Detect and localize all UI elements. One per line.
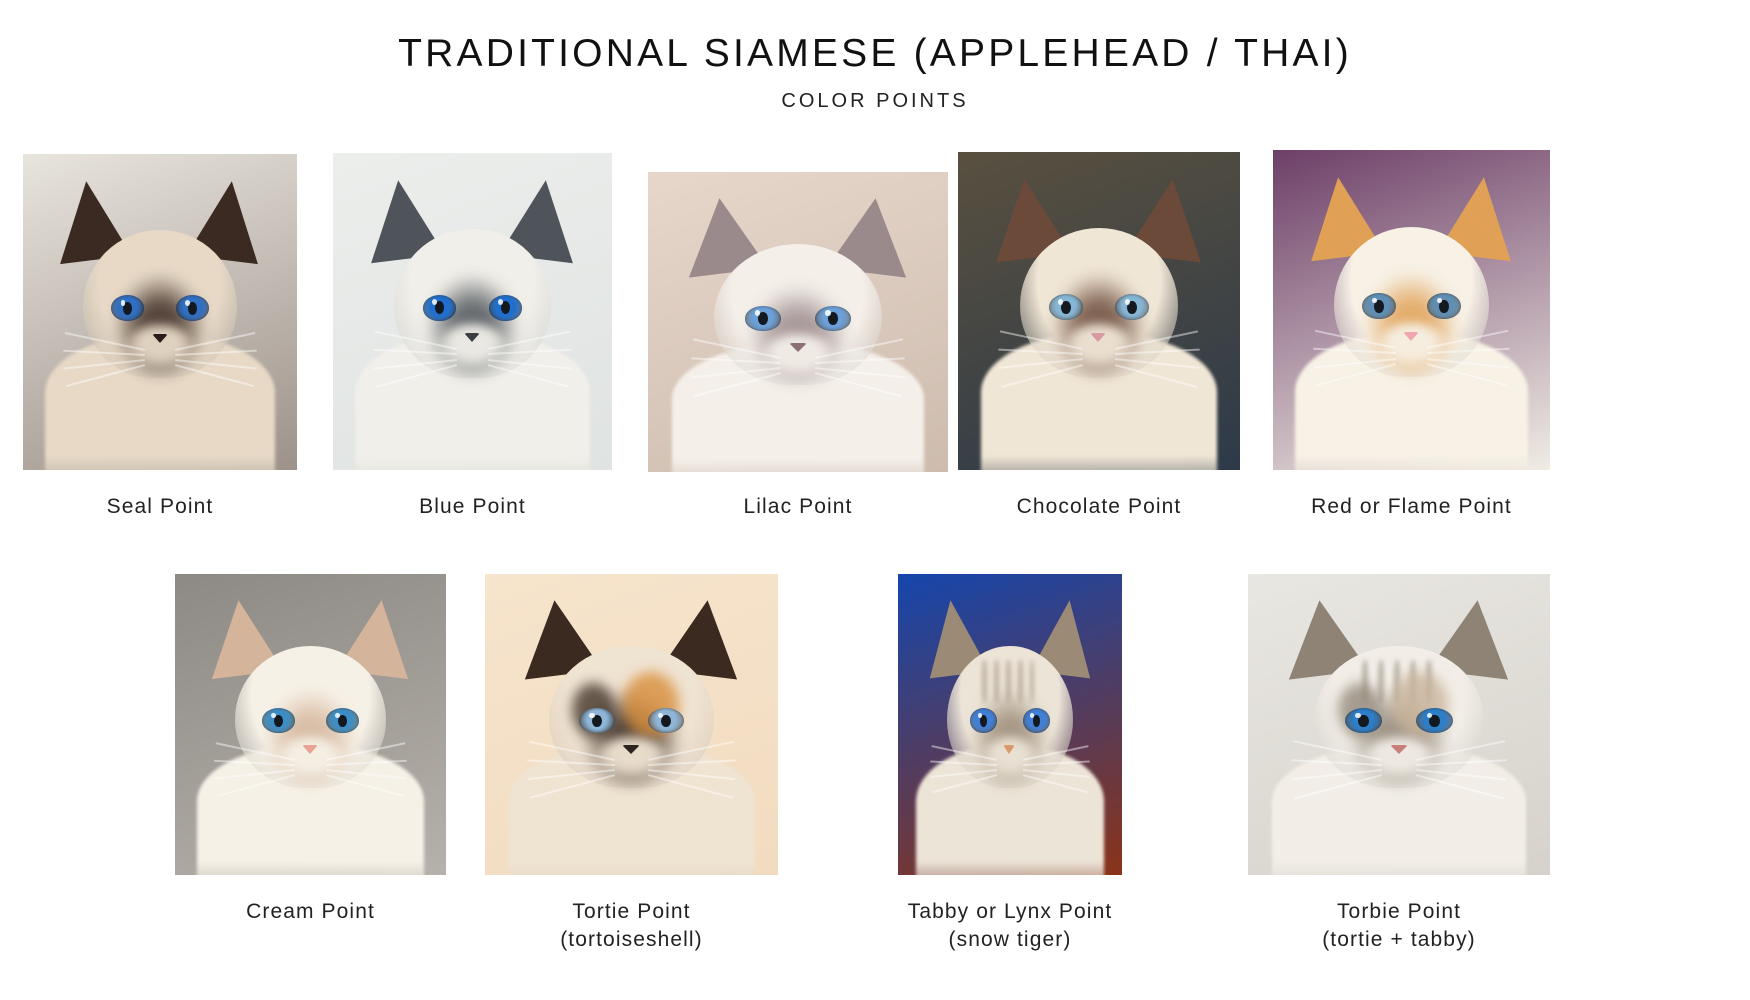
cat-eye-glint [1125, 299, 1130, 305]
cat-photo-chocolate-point[interactable] [958, 152, 1240, 470]
cat-nose [464, 333, 480, 342]
caption-line-1: Lilac Point [744, 495, 853, 518]
cat-photo-torbie-point[interactable] [1248, 574, 1550, 875]
caption-line-2: (tortoiseshell) [485, 926, 778, 954]
cat-nose [1390, 745, 1408, 754]
cat-figure [485, 574, 778, 875]
cat-portrait [485, 574, 778, 875]
cat-forehead-stripe [1018, 660, 1022, 702]
cat-photo-seal-point[interactable] [23, 154, 297, 470]
page-title: TRADITIONAL SIAMESE (APPLEHEAD / THAI) [0, 0, 1750, 76]
cat-nose [1403, 332, 1419, 341]
caption-seal-point: Seal Point [23, 493, 297, 521]
cat-figure [333, 153, 612, 470]
cat-photo-tabby-lynx-point[interactable] [898, 574, 1122, 875]
cat-figure [1273, 150, 1550, 470]
cat-forehead-stripe [982, 660, 986, 702]
caption-line-1: Tabby or Lynx Point [908, 900, 1113, 923]
caption-line-1: Chocolate Point [1017, 495, 1182, 518]
caption-line-2: (snow tiger) [898, 926, 1122, 954]
caption-lilac-point: Lilac Point [648, 493, 948, 521]
cat-photo-tortie-point[interactable] [485, 574, 778, 875]
cat-nose [1003, 745, 1015, 754]
cat-eye-glint [825, 310, 830, 315]
cat-eye-glint [755, 310, 760, 315]
cat-portrait [1248, 574, 1550, 875]
cat-photo-blue-point[interactable] [333, 153, 612, 470]
cat-forehead-stripe [994, 660, 998, 702]
cat-eye-glint [978, 713, 982, 718]
cat-forehead-stripe [1006, 660, 1010, 702]
cat-photo-lilac-point[interactable] [648, 172, 948, 472]
caption-torbie-point: Torbie Point(tortie + tabby) [1248, 898, 1550, 954]
caption-line-1: Cream Point [246, 900, 375, 923]
cat-nose [1090, 333, 1106, 342]
caption-cream-point: Cream Point [175, 898, 446, 926]
page-subtitle: COLOR POINTS [0, 76, 1750, 113]
cat-photo-red-flame-point[interactable] [1273, 150, 1550, 470]
cat-portrait [333, 153, 612, 470]
caption-tortie-point: Tortie Point(tortoiseshell) [485, 898, 778, 954]
caption-red-flame-point: Red or Flame Point [1273, 493, 1550, 521]
cat-eye-glint [121, 300, 126, 306]
cat-nose [622, 745, 640, 754]
cat-eye-glint [498, 299, 503, 305]
caption-line-1: Seal Point [107, 495, 214, 518]
cat-eye-glint [589, 713, 594, 718]
caption-line-1: Red or Flame Point [1311, 495, 1512, 518]
caption-blue-point: Blue Point [333, 493, 612, 521]
cat-portrait [1273, 150, 1550, 470]
cat-eye-glint [1372, 298, 1377, 304]
cat-figure [1248, 574, 1550, 875]
cat-nose [789, 343, 807, 352]
header: TRADITIONAL SIAMESE (APPLEHEAD / THAI) C… [0, 0, 1750, 113]
cat-figure [175, 574, 446, 875]
cat-figure [23, 154, 297, 470]
caption-chocolate-point: Chocolate Point [958, 493, 1240, 521]
cat-portrait [648, 172, 948, 472]
cat-figure [648, 172, 948, 472]
cat-portrait [958, 152, 1240, 470]
caption-line-1: Blue Point [419, 495, 526, 518]
cat-nose [152, 334, 168, 343]
cat-photo-cream-point[interactable] [175, 574, 446, 875]
cat-portrait [23, 154, 297, 470]
cat-portrait [175, 574, 446, 875]
cat-eye-glint [1437, 298, 1442, 304]
caption-line-1: Torbie Point [1337, 900, 1461, 923]
caption-line-1: Tortie Point [572, 900, 690, 923]
cat-nose [302, 745, 318, 754]
infographic-page: TRADITIONAL SIAMESE (APPLEHEAD / THAI) C… [0, 0, 1750, 1000]
caption-line-2: (tortie + tabby) [1248, 926, 1550, 954]
cat-eye-glint [185, 300, 190, 306]
cat-figure [898, 574, 1122, 875]
cat-portrait [898, 574, 1122, 875]
cat-figure [958, 152, 1240, 470]
caption-tabby-lynx-point: Tabby or Lynx Point(snow tiger) [898, 898, 1122, 954]
